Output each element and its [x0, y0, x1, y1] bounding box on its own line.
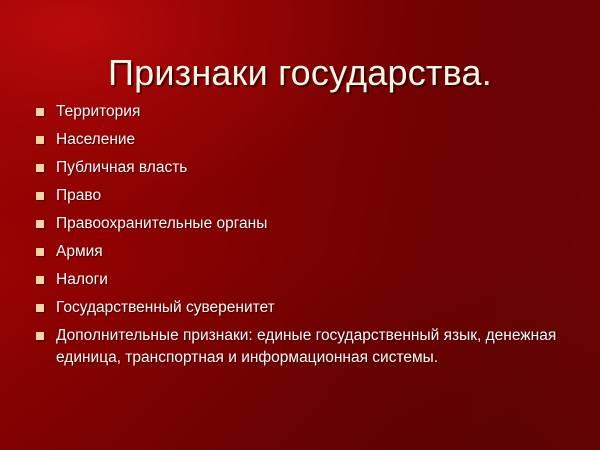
list-item: Дополнительные признаки: единые государс…: [34, 325, 590, 369]
list-item: Государственный суверенитет: [34, 297, 590, 319]
list-item: Публичная власть: [34, 157, 590, 179]
list-item-label: Право: [56, 185, 590, 207]
list-item: Правоохранительные органы: [34, 213, 590, 235]
square-bullet-icon: [36, 164, 44, 172]
square-bullet-icon: [36, 332, 44, 340]
list-item-label: Территория: [56, 101, 590, 123]
list-item-label: Налоги: [56, 269, 590, 291]
list-item-label: Государственный суверенитет: [56, 297, 590, 319]
square-bullet-icon: [36, 136, 44, 144]
list-item: Налоги: [34, 269, 590, 291]
list-item-label: Население: [56, 129, 590, 151]
square-bullet-icon: [36, 108, 44, 116]
list-item-label: Армия: [56, 241, 590, 263]
list-item-label: Правоохранительные органы: [56, 213, 590, 235]
list-item: Армия: [34, 241, 590, 263]
presentation-slide: Признаки государства. Территория Населен…: [0, 0, 600, 450]
square-bullet-icon: [36, 220, 44, 228]
square-bullet-icon: [36, 192, 44, 200]
list-item: Территория: [34, 101, 590, 123]
square-bullet-icon: [36, 304, 44, 312]
list-item-label: Публичная власть: [56, 157, 590, 179]
square-bullet-icon: [36, 248, 44, 256]
square-bullet-icon: [36, 276, 44, 284]
bullet-list: Территория Население Публичная власть Пр…: [34, 101, 590, 369]
list-item: Население: [34, 129, 590, 151]
list-item-label: Дополнительные признаки: единые государс…: [56, 325, 590, 369]
list-item: Право: [34, 185, 590, 207]
slide-title: Признаки государства.: [0, 51, 600, 95]
